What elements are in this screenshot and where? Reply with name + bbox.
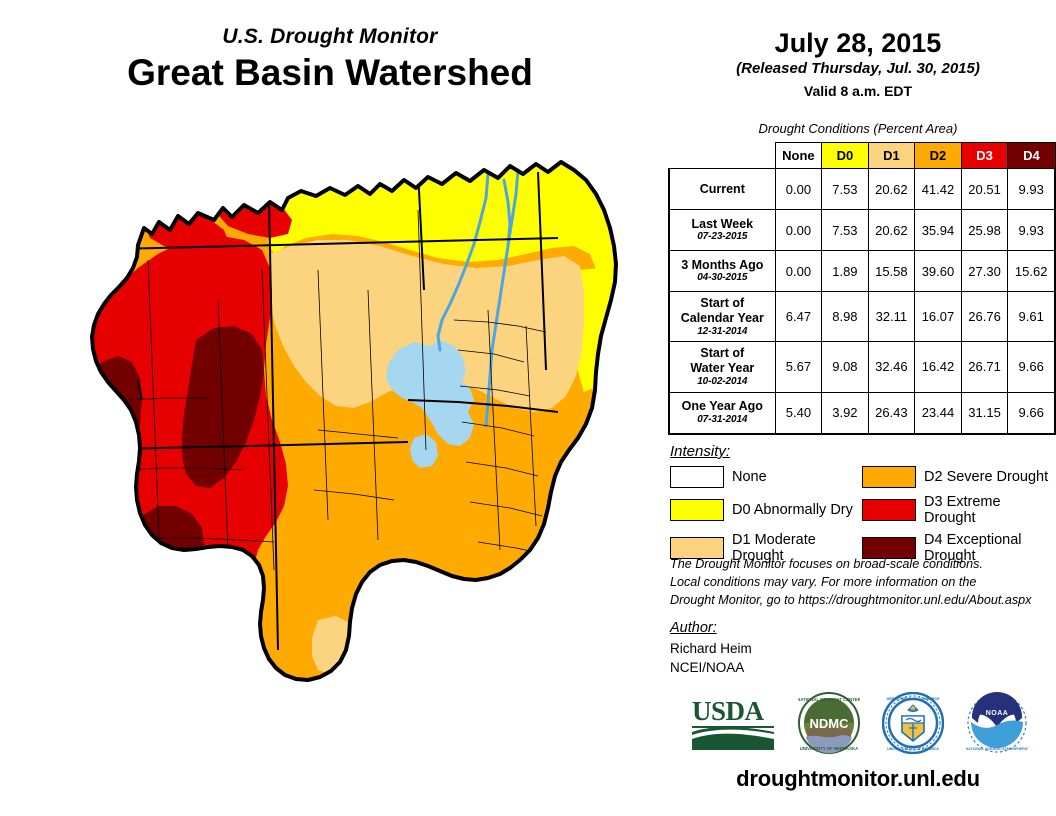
table-cell-d1: 20.62: [868, 210, 915, 251]
table-cell-d4: 9.93: [1008, 169, 1055, 210]
table-cell-d0: 7.53: [822, 169, 868, 210]
legend-label-d0: D0 Abnormally Dry: [732, 502, 853, 518]
table-cell-d3: 26.71: [961, 342, 1008, 392]
table-row-date: 12-31-2014: [673, 326, 772, 338]
notes-line-2: Local conditions may vary. For more info…: [670, 574, 1050, 592]
svg-text:UNITED STATES OF AMERICA: UNITED STATES OF AMERICA: [887, 747, 939, 751]
legend-item-d2: D2 Severe Drought: [862, 466, 1056, 488]
author-affiliation: NCEI/NOAA: [670, 658, 1050, 677]
table-cell-d4: 9.61: [1008, 292, 1055, 342]
table-body: Current0.007.5320.6241.4220.519.93Last W…: [669, 169, 1055, 434]
legend-swatch-d2: [862, 466, 916, 488]
release-date: (Released Thursday, Jul. 30, 2015): [660, 58, 1056, 81]
column-header-d3: D3: [961, 143, 1008, 169]
valid-time: Valid 8 a.m. EDT: [660, 81, 1056, 102]
table-header: None D0 D1 D2 D3 D4: [669, 143, 1055, 169]
svg-text:NATIONAL OCEANIC ATMOSPHERIC: NATIONAL OCEANIC ATMOSPHERIC: [966, 747, 1028, 751]
column-header-d4: D4: [1008, 143, 1055, 169]
table-row-date: 07-31-2014: [673, 414, 772, 426]
table-cell-d4: 15.62: [1008, 251, 1055, 292]
author-block: Author: Richard Heim NCEI/NOAA: [670, 620, 1050, 677]
intensity-heading: Intensity:: [670, 443, 1056, 460]
author-name: Richard Heim: [670, 639, 1050, 658]
legend-item-d3: D3 Extreme Drought: [862, 494, 1056, 526]
table-cell-d1: 32.11: [868, 292, 915, 342]
table-cell-none: 5.40: [775, 392, 822, 434]
svg-text:UNIVERSITY OF NEBRASKA: UNIVERSITY OF NEBRASKA: [800, 746, 858, 751]
table-row-label: One Year Ago07-31-2014: [669, 392, 775, 434]
table-row-label: Start ofCalendar Year12-31-2014: [669, 292, 775, 342]
layer-d0-southeast-notch: [578, 548, 626, 574]
table-cell-none: 0.00: [775, 169, 822, 210]
column-header-d0: D0: [822, 143, 868, 169]
table-cell-none: 0.00: [775, 251, 822, 292]
table-row-label: Last Week07-23-2015: [669, 210, 775, 251]
map-drought-layers: [18, 150, 654, 710]
drought-map-figure[interactable]: [18, 150, 654, 710]
logos-row: USDA NDMC NATIONAL DROUGHT CENTER UNIVER…: [662, 692, 1056, 759]
table-cell-d2: 39.60: [915, 251, 962, 292]
table-row-date: 04-30-2015: [673, 272, 772, 284]
map-title-block: U.S. Drought Monitor Great Basin Watersh…: [0, 26, 660, 95]
table-caption: Drought Conditions (Percent Area): [660, 121, 1056, 136]
table-row: One Year Ago07-31-20145.403.9226.4323.44…: [669, 392, 1055, 434]
table-cell-d3: 20.51: [961, 169, 1008, 210]
noaa-logo[interactable]: NOAA NATIONAL OCEANIC ATMOSPHERIC: [966, 692, 1028, 759]
svg-text:NOAA: NOAA: [986, 710, 1009, 717]
table-cell-d0: 7.53: [822, 210, 868, 251]
table-corner-cell: [669, 143, 775, 169]
legend-grid: NoneD2 Severe DroughtD0 Abnormally DryD3…: [670, 466, 1056, 564]
usda-logo[interactable]: USDA: [690, 694, 776, 757]
map-supertitle: U.S. Drought Monitor: [0, 26, 660, 48]
legend-item-d0: D0 Abnormally Dry: [670, 494, 862, 526]
table-cell-d2: 16.07: [915, 292, 962, 342]
info-panel: July 28, 2015 (Released Thursday, Jul. 3…: [660, 0, 1056, 816]
usdc-seal[interactable]: DEPARTMENT OF COMMERCE UNITED STATES OF …: [882, 692, 944, 759]
table-row-label: Current: [669, 169, 775, 210]
table-cell-d2: 35.94: [915, 210, 962, 251]
table-row: Start ofWater Year10-02-20145.679.0832.4…: [669, 342, 1055, 392]
legend-item-none: None: [670, 466, 862, 488]
legend-swatch-none: [670, 466, 724, 488]
table-row-label: Start ofWater Year10-02-2014: [669, 342, 775, 392]
legend-swatch-d0: [670, 499, 724, 521]
table-row: Last Week07-23-20150.007.5320.6235.9425.…: [669, 210, 1055, 251]
report-date: July 28, 2015: [660, 28, 1056, 58]
column-header-none: None: [775, 143, 822, 169]
table-row-date: 10-02-2014: [673, 376, 772, 388]
site-url[interactable]: droughtmonitor.unl.edu: [660, 766, 1056, 792]
table-cell-d1: 20.62: [868, 169, 915, 210]
legend-swatch-d3: [862, 499, 916, 521]
table-row-date: 07-23-2015: [673, 231, 772, 243]
table-cell-d1: 26.43: [868, 392, 915, 434]
ndmc-logo[interactable]: NDMC NATIONAL DROUGHT CENTER UNIVERSITY …: [798, 692, 860, 759]
intensity-legend: Intensity: NoneD2 Severe DroughtD0 Abnor…: [670, 443, 1056, 564]
page-title: Great Basin Watershed: [0, 52, 660, 95]
svg-text:DEPARTMENT OF COMMERCE: DEPARTMENT OF COMMERCE: [886, 697, 940, 701]
svg-text:NATIONAL DROUGHT CENTER: NATIONAL DROUGHT CENTER: [798, 697, 860, 702]
table-cell-none: 5.67: [775, 342, 822, 392]
column-header-d2: D2: [915, 143, 962, 169]
notes-line-3: Drought Monitor, go to https://droughtmo…: [670, 592, 1050, 610]
svg-text:USDA: USDA: [692, 696, 765, 726]
layer-d4-exceptional-west: [82, 356, 142, 602]
table-cell-d1: 15.58: [868, 251, 915, 292]
table-cell-d3: 25.98: [961, 210, 1008, 251]
notes-block: The Drought Monitor focuses on broad-sca…: [670, 556, 1050, 610]
table-cell-d4: 9.93: [1008, 210, 1055, 251]
table-cell-d3: 27.30: [961, 251, 1008, 292]
table-cell-d3: 31.15: [961, 392, 1008, 434]
table-cell-d3: 26.76: [961, 292, 1008, 342]
author-heading: Author:: [670, 620, 1050, 636]
column-header-d1: D1: [868, 143, 915, 169]
table-header-row: None D0 D1 D2 D3 D4: [669, 143, 1055, 169]
layer-d1-south-pocket: [370, 572, 458, 610]
lake-tahoe: [79, 434, 102, 472]
notes-line-1: The Drought Monitor focuses on broad-sca…: [670, 556, 1050, 574]
table-cell-d0: 3.92: [822, 392, 868, 434]
table-row-label: 3 Months Ago04-30-2015: [669, 251, 775, 292]
table-cell-d4: 9.66: [1008, 342, 1055, 392]
table-row: 3 Months Ago04-30-20150.001.8915.5839.60…: [669, 251, 1055, 292]
table-cell-d0: 8.98: [822, 292, 868, 342]
table-cell-d0: 1.89: [822, 251, 868, 292]
table-row: Start ofCalendar Year12-31-20146.478.983…: [669, 292, 1055, 342]
map-panel: U.S. Drought Monitor Great Basin Watersh…: [0, 0, 660, 816]
table-cell-d2: 16.42: [915, 342, 962, 392]
legend-label-d2: D2 Severe Drought: [924, 469, 1048, 485]
legend-label-none: None: [732, 469, 767, 485]
table-cell-none: 0.00: [775, 210, 822, 251]
table-row: Current0.007.5320.6241.4220.519.93: [669, 169, 1055, 210]
legend-label-d3: D3 Extreme Drought: [924, 494, 1056, 526]
drought-conditions-table: None D0 D1 D2 D3 D4 Current0.007.5320.62…: [668, 142, 1056, 435]
table-cell-d4: 9.66: [1008, 392, 1055, 434]
table-cell-d2: 23.44: [915, 392, 962, 434]
table-cell-d2: 41.42: [915, 169, 962, 210]
table-cell-d0: 9.08: [822, 342, 868, 392]
svg-text:NDMC: NDMC: [810, 716, 850, 731]
table-cell-d1: 32.46: [868, 342, 915, 392]
date-block: July 28, 2015 (Released Thursday, Jul. 3…: [660, 28, 1056, 102]
table-cell-none: 6.47: [775, 292, 822, 342]
